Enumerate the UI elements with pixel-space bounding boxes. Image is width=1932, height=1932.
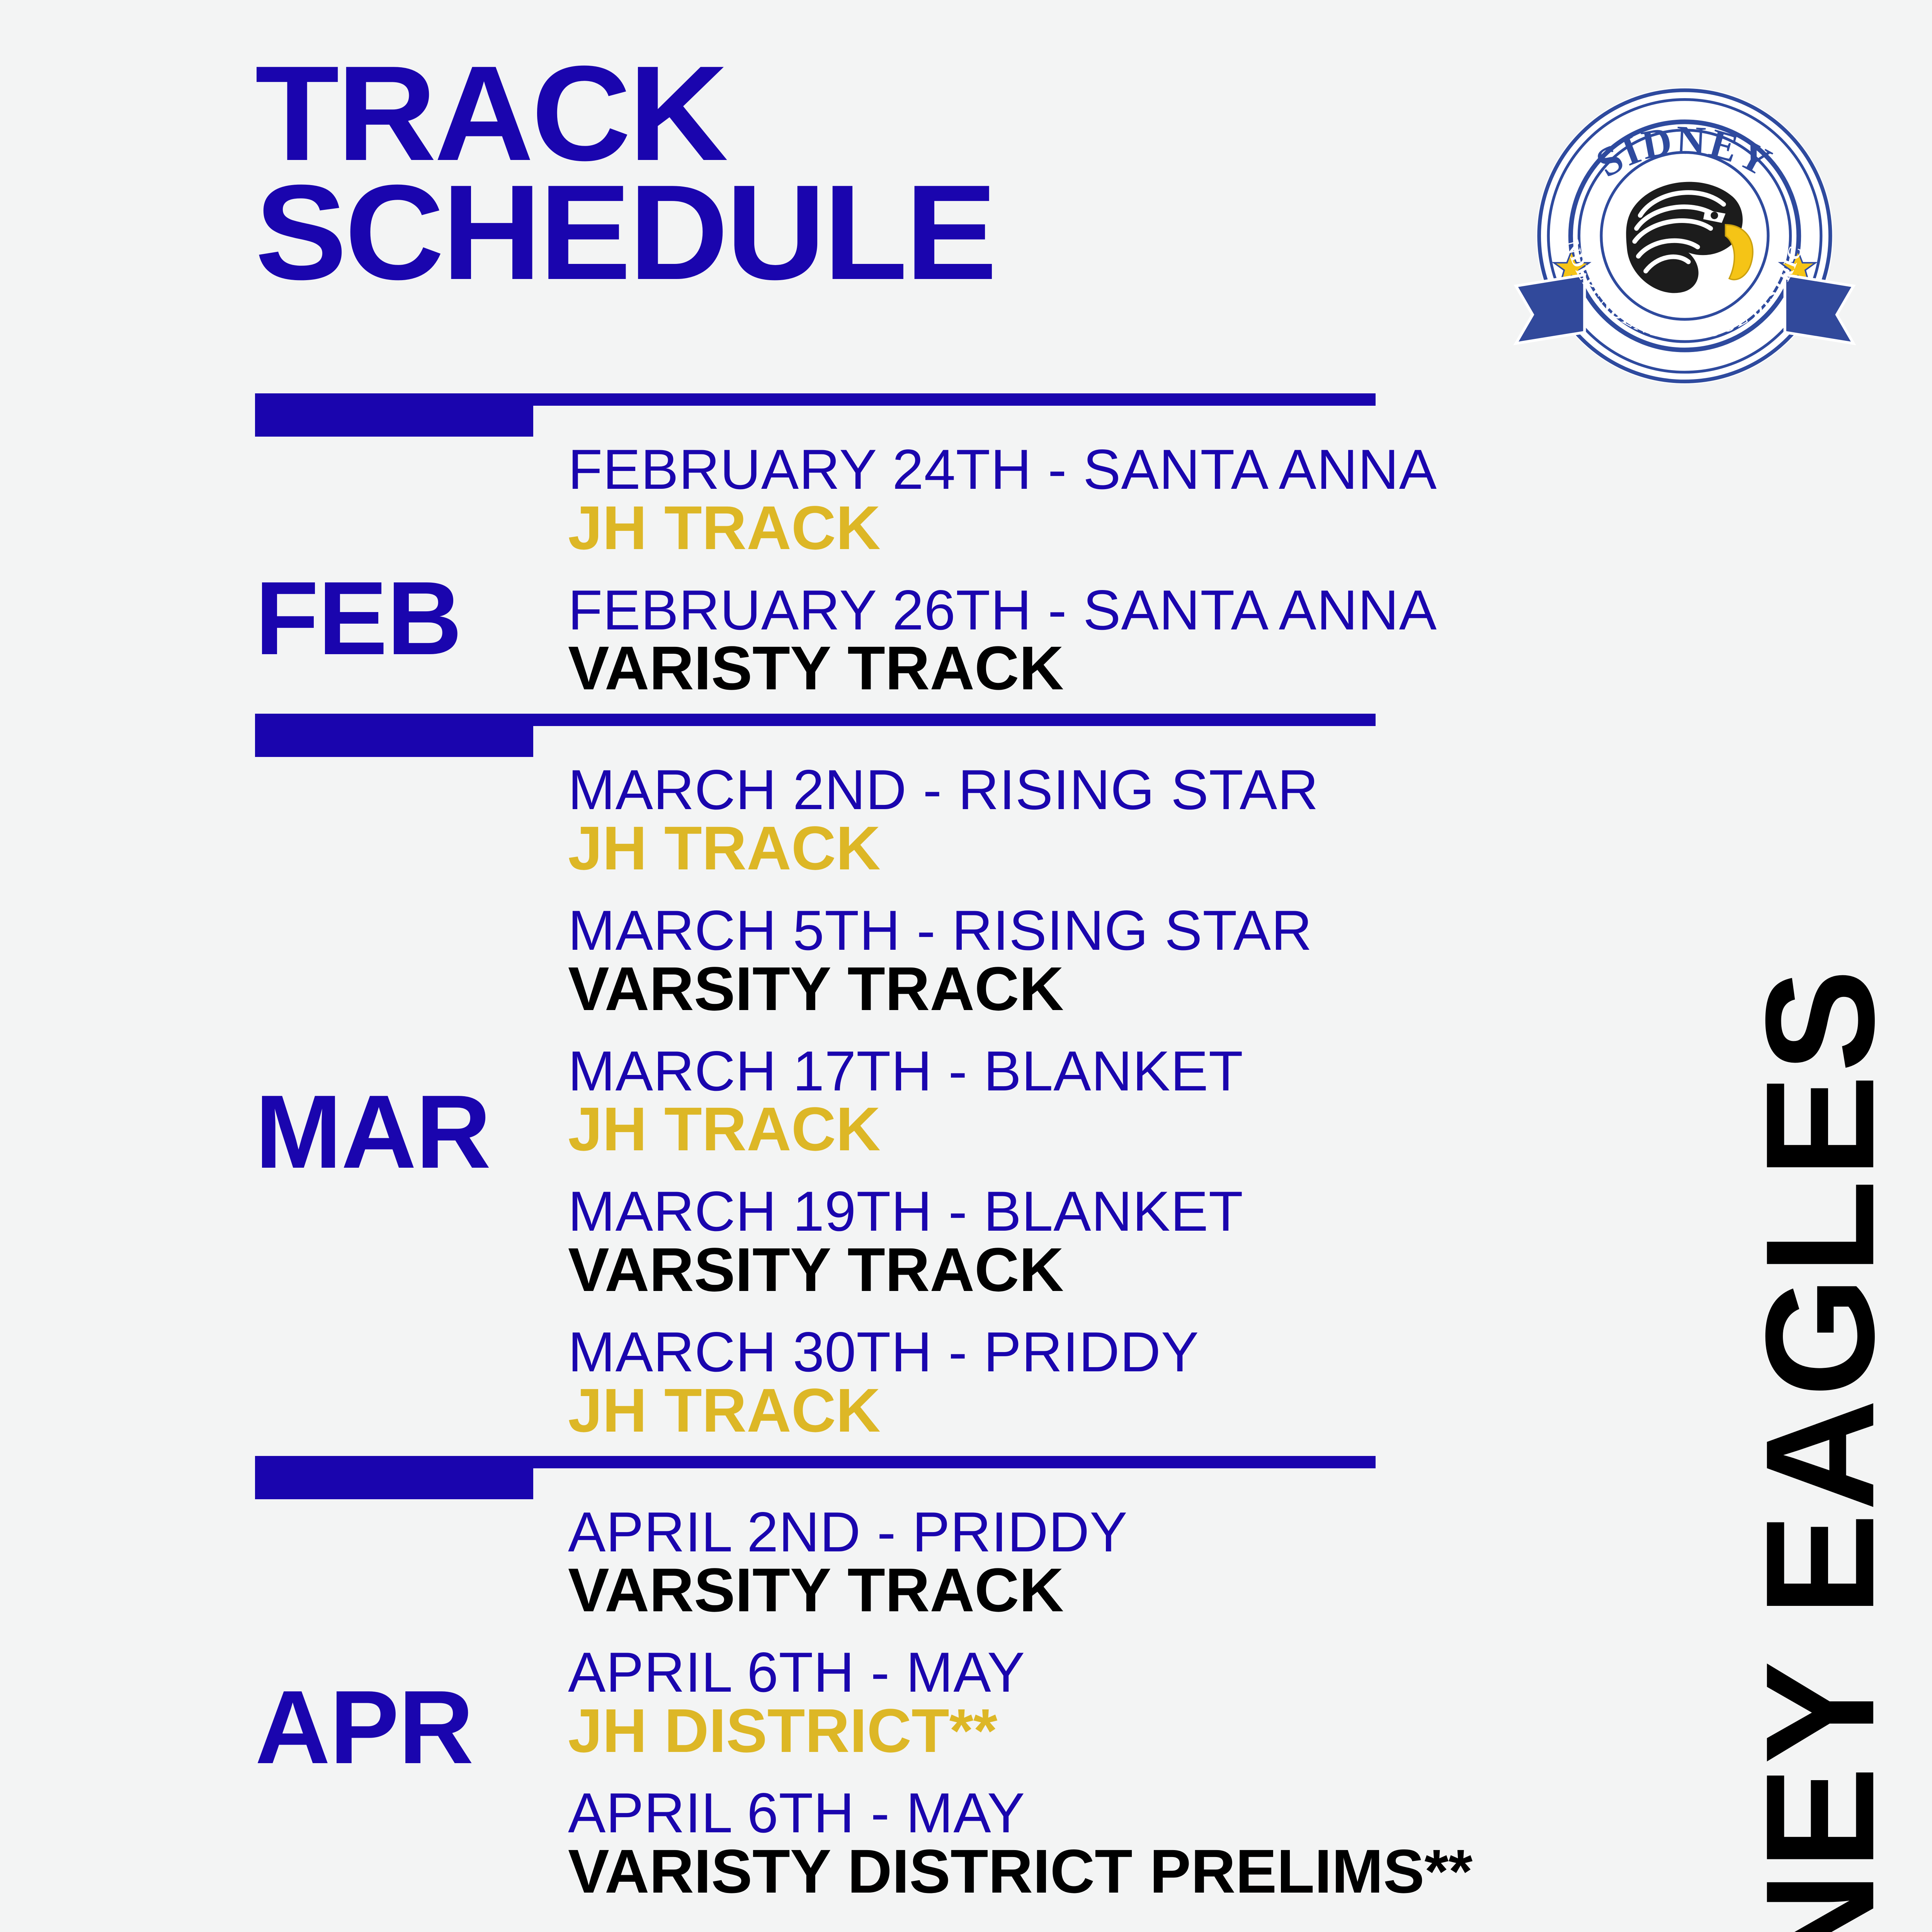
event-date: APRIL 2ND - PRIDDY <box>568 1502 1662 1563</box>
month-body: FEBFEBRUARY 24TH - SANTA ANNAJH TRACKFEB… <box>0 439 1662 699</box>
month-label-mar: MAR <box>255 1080 490 1184</box>
event-name: JH TRACK <box>568 497 1662 559</box>
schedule-list: FEBFEBRUARY 24TH - SANTA ANNAJH TRACKFEB… <box>0 379 1662 1932</box>
month-block-apr: APRAPRIL 2ND - PRIDDYVARSITY TRACKAPRIL … <box>0 1441 1662 1932</box>
event-name: VARSITY TRACK <box>568 958 1662 1020</box>
page-title: TRACK SCHEDULE <box>255 54 995 292</box>
event-name: VARISTY TRACK <box>568 637 1662 699</box>
schedule-event: MARCH 30TH - PRIDDYJH TRACK <box>568 1321 1662 1441</box>
event-name: JH TRACK <box>568 1098 1662 1160</box>
month-divider <box>0 699 1662 757</box>
schedule-event: APRIL 6TH - MAYVARISTY DISTRICT PRELIMS*… <box>568 1782 1662 1902</box>
event-date: APRIL 9TH - BLANKET <box>568 1923 1662 1932</box>
event-date: MARCH 19TH - BLANKET <box>568 1181 1662 1242</box>
event-date: FEBRUARY 24TH - SANTA ANNA <box>568 439 1662 500</box>
schedule-event: MARCH 2ND - RISING STARJH TRACK <box>568 759 1662 879</box>
event-date: APRIL 6TH - MAY <box>568 1642 1662 1703</box>
schedule-event: APRIL 6TH - MAYJH DISTRICT** <box>568 1642 1662 1762</box>
event-date: MARCH 30TH - PRIDDY <box>568 1321 1662 1383</box>
month-label-feb: FEB <box>255 566 461 671</box>
event-name: VARISTY DISTRICT PRELIMS** <box>568 1840 1662 1902</box>
divider-block <box>255 393 533 437</box>
side-wordmark-text: SIDNEY EAGLES <box>1743 967 1897 1932</box>
schedule-event: APRIL 2ND - PRIDDYVARSITY TRACK <box>568 1502 1662 1621</box>
schedule-event: APRIL 9TH - BLANKETVARISTY DISTRICT** <box>568 1923 1662 1932</box>
event-name: JH TRACK <box>568 817 1662 879</box>
event-date: MARCH 17TH - BLANKET <box>568 1041 1662 1102</box>
schedule-event: MARCH 19TH - BLANKETVARSITY TRACK <box>568 1181 1662 1301</box>
schedule-event: FEBRUARY 24TH - SANTA ANNAJH TRACK <box>568 439 1662 559</box>
month-divider <box>0 379 1662 437</box>
poster-header: TRACK SCHEDULE <box>0 0 1932 386</box>
schedule-event: MARCH 5TH - RISING STARVARSITY TRACK <box>568 900 1662 1020</box>
divider-block <box>255 714 533 757</box>
event-name: JH DISTRICT** <box>568 1700 1662 1762</box>
event-name: VARSITY TRACK <box>568 1239 1662 1301</box>
side-wordmark: SIDNEY EAGLES <box>1696 603 1932 1932</box>
month-label-apr: APR <box>255 1675 473 1780</box>
schedule-event: MARCH 17TH - BLANKETJH TRACK <box>568 1041 1662 1160</box>
month-block-feb: FEBFEBRUARY 24TH - SANTA ANNAJH TRACKFEB… <box>0 379 1662 699</box>
month-block-mar: MARMARCH 2ND - RISING STARJH TRACKMARCH … <box>0 699 1662 1441</box>
schedule-event: FEBRUARY 26TH - SANTA ANNAVARISTY TRACK <box>568 580 1662 699</box>
month-body: APRAPRIL 2ND - PRIDDYVARSITY TRACKAPRIL … <box>0 1502 1662 1932</box>
event-date: MARCH 2ND - RISING STAR <box>568 759 1662 820</box>
event-date: APRIL 6TH - MAY <box>568 1782 1662 1844</box>
month-body: MARMARCH 2ND - RISING STARJH TRACKMARCH … <box>0 759 1662 1441</box>
sidney-isd-logo: SIDNEY INDEPENDENT SCHOOL DISTRICT <box>1499 54 1870 425</box>
eagle-head-icon <box>1626 182 1753 293</box>
month-divider <box>0 1441 1662 1499</box>
event-name: VARSITY TRACK <box>568 1559 1662 1621</box>
divider-block <box>255 1456 533 1499</box>
event-name: JH TRACK <box>568 1379 1662 1441</box>
event-date: FEBRUARY 26TH - SANTA ANNA <box>568 580 1662 641</box>
event-date: MARCH 5TH - RISING STAR <box>568 900 1662 961</box>
